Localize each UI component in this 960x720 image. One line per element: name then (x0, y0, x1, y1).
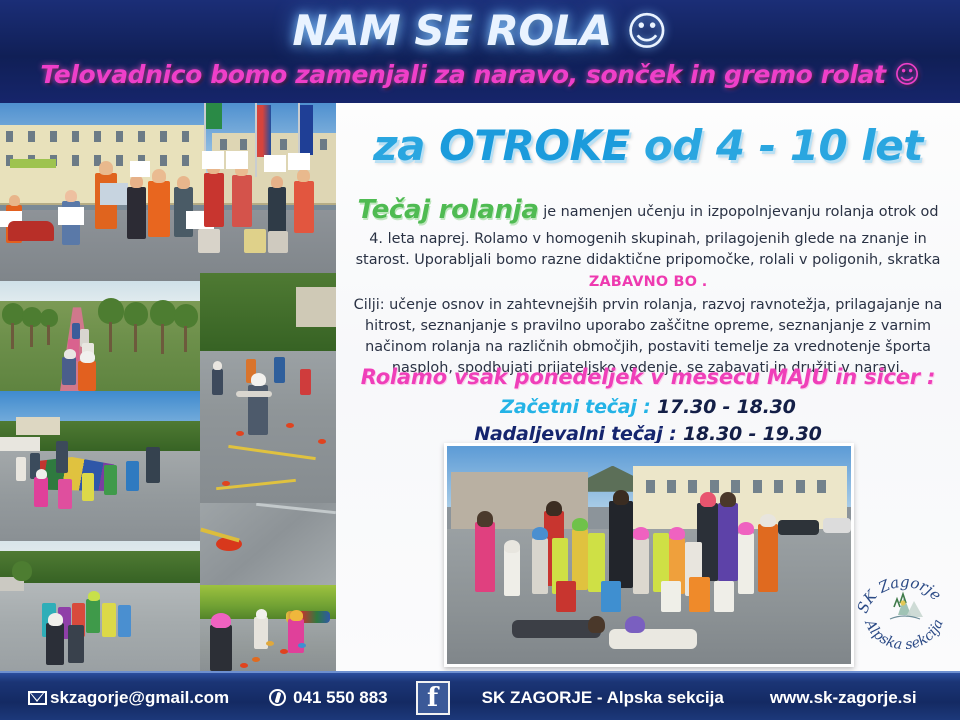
smiley-icon: ☺ (626, 9, 668, 55)
footer-club-name: SK ZAGORJE - Alpska sekcija (482, 688, 724, 708)
photo-building-far (16, 417, 60, 435)
photo-helmet (633, 527, 649, 540)
photo-helmet (251, 373, 266, 386)
club-logo-emblem (890, 594, 923, 619)
footer-contact-row: skzagorje@gmail.com 041 550 883 f SK ZAG… (0, 673, 960, 720)
collage-photo-tree-path (0, 281, 200, 391)
photo-tree-row (0, 299, 60, 391)
photo-kid-seated (714, 581, 734, 612)
photo-building-far (296, 287, 336, 327)
photo-sign (100, 183, 128, 205)
photo-helmet (504, 540, 520, 553)
photo-kid (504, 548, 520, 596)
photo-kid-head (99, 161, 113, 175)
photo-head (720, 492, 736, 507)
photo-helmet (625, 616, 645, 633)
photo-cone (252, 657, 260, 662)
photo-car (823, 518, 851, 533)
collage-photo-hedge-slalom (200, 585, 336, 671)
footer-phone-text: 041 550 883 (293, 688, 388, 708)
photo-kid-lying (512, 620, 601, 637)
photo-cone (266, 641, 274, 646)
footer-bar: skzagorje@gmail.com 041 550 883 f SK ZAG… (0, 671, 960, 720)
photo-helmet (64, 349, 76, 359)
photo-kid (34, 477, 48, 507)
photo-cone (280, 649, 288, 654)
photo-helmet (80, 351, 95, 363)
poster-subtitle-text: Telovadnico bomo zamenjali za naravo, so… (40, 60, 885, 89)
schedule-advanced-row: Nadaljevalni tečaj : 18.30 - 19.30 (336, 423, 960, 445)
photo-kid-head (271, 176, 283, 188)
photo-helmet (532, 527, 548, 540)
photo-coach (718, 503, 738, 581)
photo-head (613, 490, 629, 505)
photo-helmet (738, 522, 754, 535)
course-heading: Tečaj rolanja (357, 195, 538, 225)
photo-skater (212, 369, 223, 395)
photo-kid (126, 461, 139, 491)
photo-skater-arm (236, 391, 272, 397)
footer-email-text: skzagorje@gmail.com (50, 688, 229, 708)
facebook-icon[interactable]: f (416, 681, 450, 715)
course-description: Tečaj rolanja je namenjen učenju in izpo… (350, 191, 946, 379)
photo-kid (738, 533, 754, 594)
photo-kid-head (152, 169, 166, 183)
envelope-icon (28, 691, 47, 705)
photo-head (700, 492, 716, 507)
photo-sign (58, 207, 84, 225)
photo-skater (300, 369, 311, 395)
age-headline-suffix: od 4 - 10 let (630, 121, 923, 170)
footer-phone: 041 550 883 (269, 688, 388, 708)
photo-cone (318, 439, 326, 444)
photo-skater (62, 357, 76, 385)
fun-highlight-dot: . (702, 274, 707, 290)
photo-car (778, 520, 818, 535)
photo-kid-seated (661, 581, 681, 612)
photo-car (8, 221, 54, 241)
photo-kid-seated (689, 577, 709, 612)
group-photo (444, 443, 854, 667)
photo-flag-slovenia (257, 105, 271, 157)
schedule-intro: Rolamo vsak ponedeljek v mesecu MAJU in … (336, 365, 960, 389)
photo-tree (12, 561, 32, 581)
photo-kid (68, 625, 84, 663)
photo-kid (232, 175, 252, 227)
photo-kid (16, 457, 26, 481)
age-headline: za OTROKE od 4 - 10 let (336, 121, 960, 170)
collage-photo-cone-closeup (200, 503, 336, 585)
photo-tree-row (96, 296, 200, 391)
photo-skater-front (78, 361, 96, 391)
photo-cone (236, 431, 244, 436)
photo-head (546, 501, 562, 516)
photo-kid (204, 173, 224, 227)
photo-helmet (290, 610, 303, 621)
photo-kid-seated (556, 581, 576, 612)
footer-club-text: SK ZAGORJE - Alpska sekcija (482, 688, 724, 708)
photo-sign (226, 151, 248, 169)
photo-head (588, 616, 604, 633)
photo-kid (532, 538, 548, 595)
photo-kid-head (65, 190, 77, 202)
photo-flag-eu (300, 105, 313, 155)
photo-kid (82, 473, 94, 501)
photo-kid-seated (244, 229, 266, 253)
photo-sign (130, 161, 150, 177)
photo-kid (148, 181, 170, 237)
schedule-advanced-time: 18.30 - 19.30 (683, 423, 822, 445)
photo-helmet (669, 527, 685, 540)
poster-title: NAM SE ROLA ☺ (0, 6, 960, 55)
age-headline-prefix: za (373, 121, 439, 170)
facebook-glyph: f (427, 685, 438, 711)
photo-kid (118, 605, 131, 637)
photo-building-left (451, 472, 588, 535)
photo-cone (286, 423, 294, 428)
schedule-beginner-time: 17.30 - 18.30 (657, 396, 796, 418)
photo-sign (264, 155, 286, 172)
club-logo-top-text: SK Zagorje (854, 573, 945, 616)
photo-skater (72, 323, 80, 339)
smiley-icon-secondary: ☺ (894, 60, 920, 89)
photo-kid (86, 599, 100, 633)
photo-collage (0, 103, 336, 671)
photo-kid (633, 538, 649, 595)
photo-kid-coach (146, 447, 160, 483)
schedule-advanced-label: Nadaljevalni tečaj : (474, 423, 676, 445)
photo-asphalt (0, 583, 200, 671)
photo-helmet (48, 613, 63, 626)
photo-kid (268, 187, 286, 235)
footer-email[interactable]: skzagorje@gmail.com (28, 688, 229, 708)
photo-kid (104, 465, 117, 495)
photo-building-far (0, 437, 40, 451)
photo-helmet (760, 514, 776, 527)
photo-kid-head (9, 195, 20, 206)
age-headline-strong: OTROKE (439, 121, 630, 170)
photo-cone (240, 663, 248, 668)
photo-helmet (88, 591, 100, 601)
photo-cone (298, 643, 306, 648)
photo-kid (127, 187, 146, 239)
schedule-block: Rolamo vsak ponedeljek v mesecu MAJU in … (336, 365, 960, 445)
schedule-beginner-label: Začetni tečaj : (500, 396, 650, 418)
photo-kid (294, 181, 314, 233)
collage-photo-group-circle (0, 541, 200, 671)
photo-kid (102, 603, 116, 637)
fun-highlight: ZABAVNO BO (589, 274, 697, 290)
poster-root: NAM SE ROLA ☺ Telovadnico bomo zamenjali… (0, 0, 960, 720)
photo-helmet (36, 469, 47, 479)
collage-photo-slalom-training (200, 273, 336, 503)
photo-coach (475, 522, 495, 592)
photo-helmet (211, 613, 231, 628)
photo-kid-coach (56, 441, 68, 473)
club-logo-bottom-text: Alpska sekcija (861, 616, 947, 653)
photo-sign (202, 151, 224, 169)
collage-photo-parachute-game (0, 391, 200, 541)
photo-kid (758, 524, 778, 592)
poster-title-text: NAM SE ROLA (292, 6, 611, 55)
photo-helmet (572, 518, 588, 531)
photo-helmet (213, 361, 222, 370)
footer-website[interactable]: www.sk-zagorje.si (770, 688, 917, 708)
photo-kid-seated (601, 581, 621, 612)
photo-kid-seated (198, 229, 220, 253)
photo-skater (274, 357, 285, 383)
phone-icon (269, 689, 286, 706)
collage-photo-group-certificates (0, 103, 336, 281)
main-content-panel: za OTROKE od 4 - 10 let Tečaj rolanja je… (336, 103, 960, 671)
photo-kid-head (297, 169, 310, 182)
photo-coach (609, 501, 633, 588)
photo-helmet (256, 609, 267, 619)
photo-kid-lying (609, 629, 698, 649)
photo-kid-head (177, 176, 190, 189)
footer-website-text: www.sk-zagorje.si (770, 688, 917, 708)
club-logo-svg: SK Zagorje Alpska sekcija (854, 563, 954, 655)
club-logo: SK Zagorje Alpska sekcija (854, 563, 954, 655)
schedule-beginner-row: Začetni tečaj : 17.30 - 18.30 (336, 396, 960, 418)
photo-kid (58, 479, 72, 509)
photo-kid-seated (268, 231, 288, 253)
photo-head (477, 511, 493, 526)
photo-kid-front (210, 625, 232, 671)
photo-flag-green (206, 103, 222, 129)
photo-kid-front (46, 623, 64, 665)
photo-sign (288, 153, 310, 170)
poster-subtitle: Telovadnico bomo zamenjali za naravo, so… (0, 60, 960, 89)
poster-header: NAM SE ROLA ☺ Telovadnico bomo zamenjali… (0, 0, 960, 103)
